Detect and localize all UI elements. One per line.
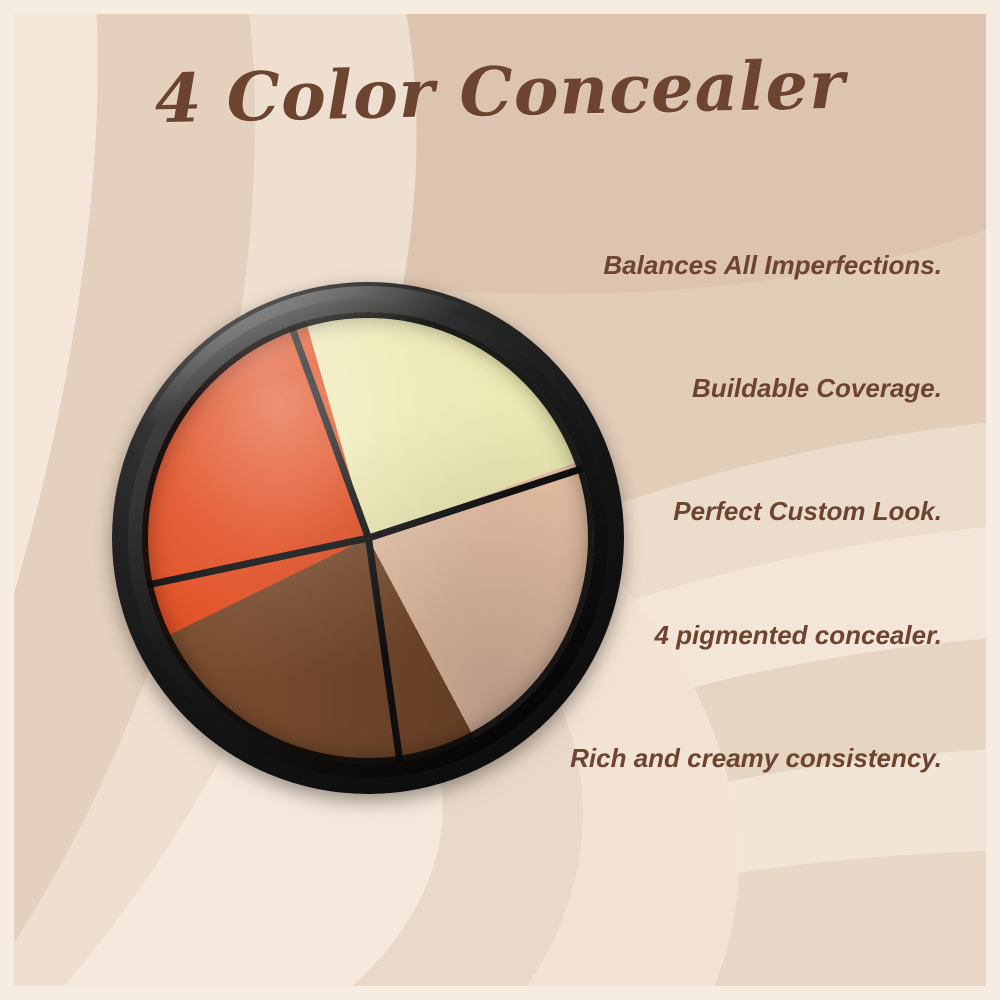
product-image-concealer-compact <box>112 282 624 794</box>
poster-frame-inner: 4 Color Concealer Balances All Imperfect… <box>14 14 986 986</box>
feature-item: Balances All Imperfections. <box>397 250 942 281</box>
poster-canvas: 4 Color Concealer Balances All Imperfect… <box>0 0 1000 1000</box>
compact-pan-well <box>142 312 594 764</box>
shade-pan <box>142 312 594 764</box>
